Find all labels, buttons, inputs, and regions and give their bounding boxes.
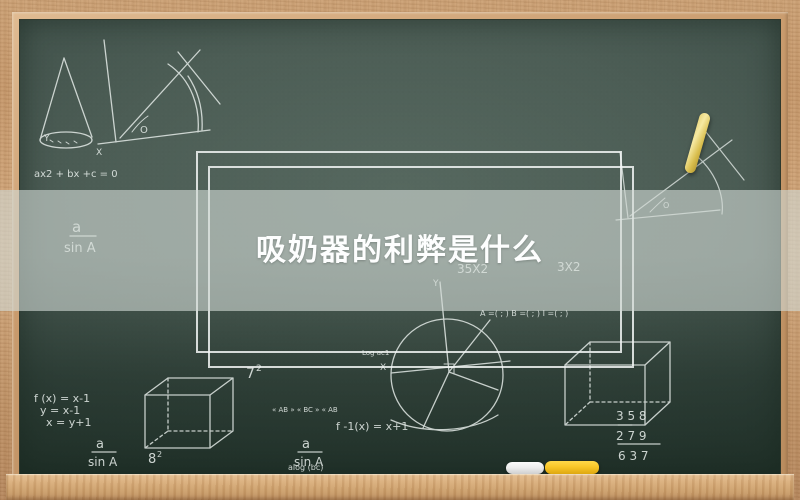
chalk-stick-yellow-ledge: [545, 461, 599, 474]
title-overlay-band: 吸奶器的利弊是什么: [0, 190, 800, 311]
chalk-stick-white-ledge: [506, 462, 544, 474]
chalk-ledge: [6, 474, 794, 500]
chalkboard-cover: a sin A Y X O ax2 + bx +c = 0 f (x) = x-…: [0, 0, 800, 500]
page-title: 吸奶器的利弊是什么: [256, 236, 544, 266]
